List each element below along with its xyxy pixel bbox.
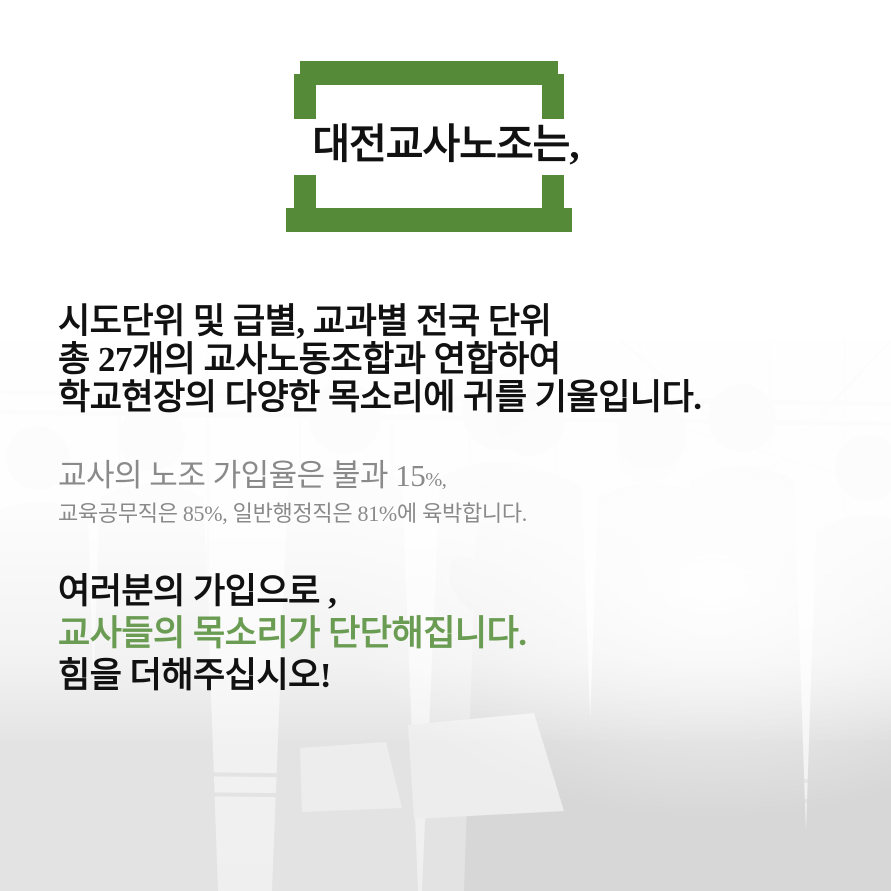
bracket-top-left-stub xyxy=(294,74,316,119)
intro-line-1: 시도단위 및 급별, 교과별 전국 단위 xyxy=(58,303,858,341)
poster-canvas: 대전교사노조는, 시도단위 및 급별, 교과별 전국 단위 총 27개의 교사노… xyxy=(0,0,891,891)
header-title: 대전교사노조는, xyxy=(0,124,891,165)
bracket-top-bar xyxy=(300,61,558,85)
cta-block: 여러분의 가입으로 , 교사들의 목소리가 단단해집니다. 힘을 더해주십시오! xyxy=(58,571,858,697)
header-block: 대전교사노조는, xyxy=(0,0,891,300)
intro-line-2: 총 27개의 교사노동조합과 연합하여 xyxy=(58,341,858,379)
intro-block: 시도단위 및 급별, 교과별 전국 단위 총 27개의 교사노동조합과 연합하여… xyxy=(58,303,858,417)
bracket-top-right-stub xyxy=(542,74,564,119)
copy-container: 시도단위 및 급별, 교과별 전국 단위 총 27개의 교사노동조합과 연합하여… xyxy=(58,303,858,697)
stats-headline-prefix: 교사의 노조 가입율은 불과 xyxy=(58,458,395,493)
cta-line-3: 힘을 더해주십시오! xyxy=(58,655,858,697)
stats-headline: 교사의 노조 가입율은 불과 15%, xyxy=(58,457,858,499)
cta-line-1: 여러분의 가입으로 , xyxy=(58,571,858,613)
intro-line-3: 학교현장의 다양한 목소리에 귀를 기울입니다. xyxy=(58,379,858,417)
stats-block: 교사의 노조 가입율은 불과 15%, 교육공무직은 85%, 일반행정직은 8… xyxy=(58,457,858,529)
stats-headline-number: 15 xyxy=(395,458,425,493)
cta-line-2: 교사들의 목소리가 단단해집니다. xyxy=(58,613,858,655)
stats-headline-percent: %, xyxy=(425,469,446,491)
stats-subline: 교육공무직은 85%, 일반행정직은 81%에 육박합니다. xyxy=(58,499,858,529)
bracket-bottom-bar xyxy=(286,208,572,232)
